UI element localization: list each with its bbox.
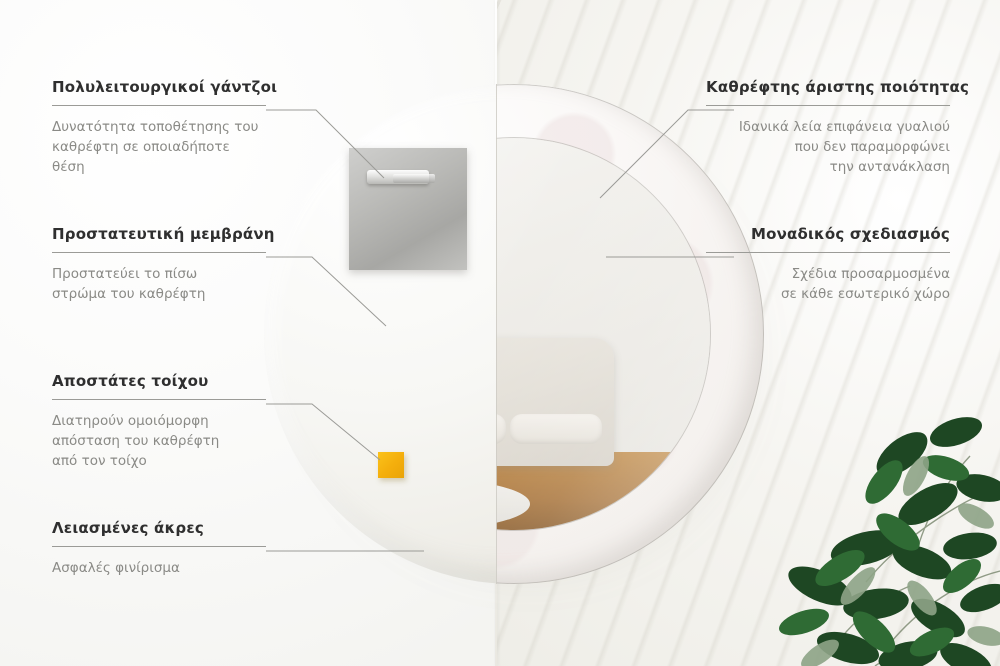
callout-desc: Ιδανικά λεία επιφάνεια γυαλιούπου δεν πα… xyxy=(706,117,950,177)
callout-title: Λειασμένες άκρες xyxy=(52,519,266,537)
callout-rule xyxy=(52,546,266,547)
mirror-halves-divider xyxy=(496,84,497,584)
callout-desc: Προστατεύει το πίσωστρώμα του καθρέφτη xyxy=(52,264,266,304)
callout-rule xyxy=(706,105,950,106)
callout-desc: Σχέδια προσαρμοσμένασε κάθε εσωτερικό χώ… xyxy=(706,264,950,304)
infographic-canvas: Πολυλειτουργικοί γάντζοι Δυνατότητα τοπο… xyxy=(0,0,1000,666)
callout-desc: Δυνατότητα τοποθέτησης τουκαθρέφτη σε οπ… xyxy=(52,117,266,177)
callout-desc: Ασφαλές φινίρισμα xyxy=(52,558,266,578)
green-foliage-branches xyxy=(670,336,1000,666)
hook-bar-secondary-icon xyxy=(393,174,435,183)
callout-title: Προστατευτική μεμβράνη xyxy=(52,225,266,243)
callout-title: Αποστάτες τοίχου xyxy=(52,372,266,390)
wall-spacer xyxy=(378,452,404,478)
callout-unique-design: Μοναδικός σχεδιασμός Σχέδια προσαρμοσμέν… xyxy=(706,225,950,304)
callout-title: Μοναδικός σχεδιασμός xyxy=(706,225,950,243)
callout-top-quality-mirror: Καθρέφτης άριστης ποιότητας Ιδανικά λεία… xyxy=(706,78,950,177)
callout-protective-membrane: Προστατευτική μεμβράνη Προστατεύει το πί… xyxy=(52,225,266,304)
callout-rule xyxy=(706,252,950,253)
callout-desc: Διατηρούν ομοιόμορφηαπόσταση του καθρέφτ… xyxy=(52,411,266,471)
multifunction-hook-plate xyxy=(349,148,467,270)
callout-hooks: Πολυλειτουργικοί γάντζοι Δυνατότητα τοπο… xyxy=(52,78,266,177)
callout-rule xyxy=(52,399,266,400)
callout-rule xyxy=(52,252,266,253)
callout-wall-spacers: Αποστάτες τοίχου Διατηρούν ομοιόμορφηαπό… xyxy=(52,372,266,471)
callout-title: Πολυλειτουργικοί γάντζοι xyxy=(52,78,266,96)
callout-smoothed-edges: Λειασμένες άκρες Ασφαλές φινίρισμα xyxy=(52,519,266,578)
callout-rule xyxy=(52,105,266,106)
callout-title: Καθρέφτης άριστης ποιότητας xyxy=(706,78,950,96)
